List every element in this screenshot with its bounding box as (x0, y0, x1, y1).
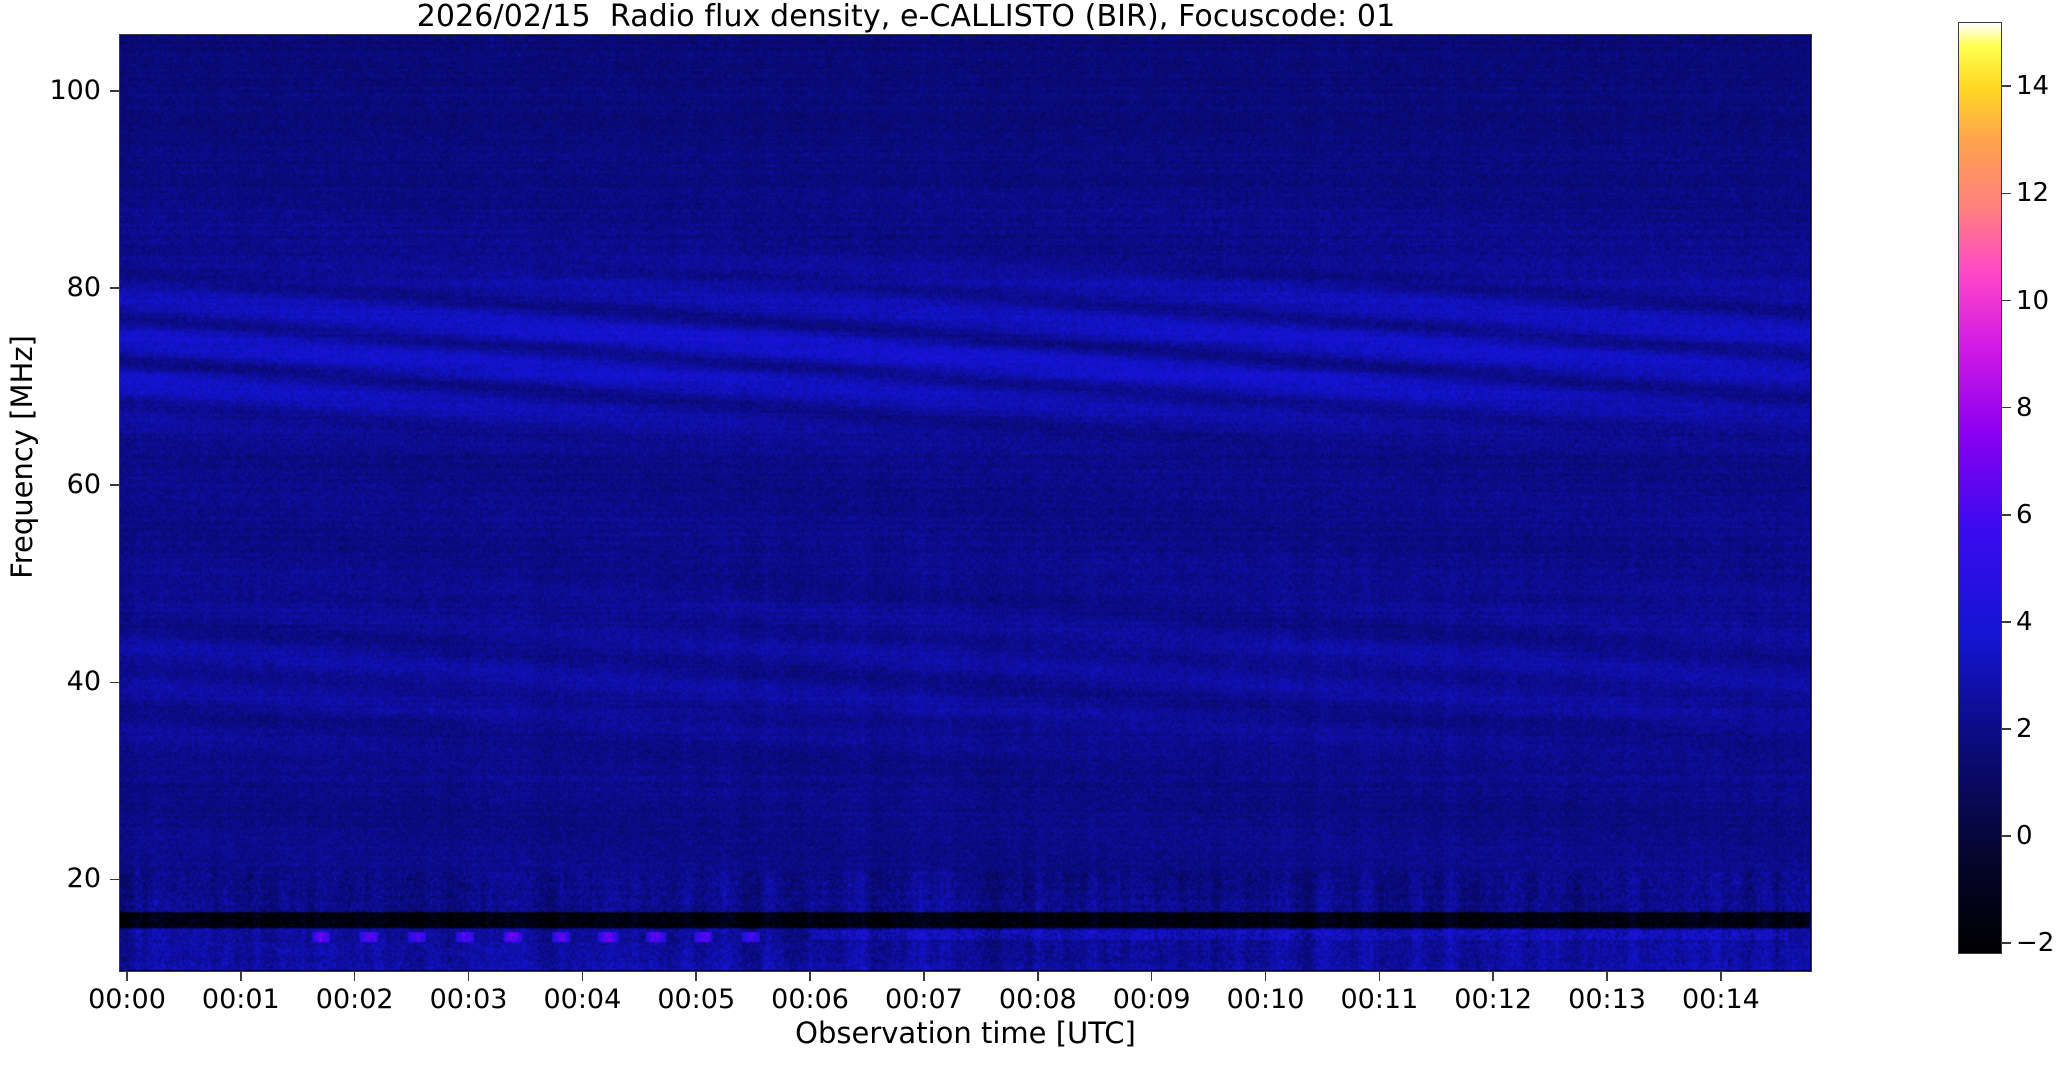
y-tick-label: 100 (9, 77, 101, 104)
y-tick-label: 20 (9, 865, 101, 892)
colorbar-tick-label: −2 (2016, 930, 2054, 956)
x-tick-mark (582, 972, 584, 981)
x-tick-label: 00:10 (1227, 986, 1305, 1013)
colorbar-tick-mark (2002, 193, 2011, 195)
x-axis-label: Observation time [UTC] (119, 1016, 1812, 1050)
x-tick-mark (126, 972, 128, 981)
x-tick-label: 00:05 (657, 986, 735, 1013)
colorbar-tick-mark (2002, 835, 2011, 837)
y-tick-mark (110, 287, 119, 289)
x-tick-label: 00:09 (1113, 986, 1191, 1013)
y-tick-mark (110, 90, 119, 92)
colorbar-tick-label: 4 (2016, 609, 2033, 635)
colorbar-gradient (1959, 23, 2001, 953)
x-tick-mark (1379, 972, 1381, 981)
x-tick-label: 00:12 (1454, 986, 1532, 1013)
y-tick-mark (110, 484, 119, 486)
spectrogram-image (120, 35, 1810, 970)
x-tick-label: 00:13 (1568, 986, 1646, 1013)
x-tick-label: 00:07 (885, 986, 963, 1013)
colorbar-tick-mark (2002, 728, 2011, 730)
x-tick-mark (240, 972, 242, 981)
colorbar-tick-label: 8 (2016, 395, 2033, 421)
spectrogram-figure: 2026/02/15 Radio flux density, e-CALLIST… (0, 0, 2066, 1067)
colorbar-tick-label: 6 (2016, 502, 2033, 528)
x-tick-mark (1606, 972, 1608, 981)
colorbar-tick-mark (2002, 300, 2011, 302)
colorbar-tick-mark (2002, 85, 2011, 87)
x-tick-label: 00:01 (202, 986, 280, 1013)
x-tick-mark (468, 972, 470, 981)
x-tick-label: 00:02 (316, 986, 394, 1013)
x-tick-mark (923, 972, 925, 981)
x-tick-mark (1151, 972, 1153, 981)
colorbar-tick-label: 14 (2016, 73, 2049, 99)
colorbar-tick-mark (2002, 514, 2011, 516)
x-tick-label: 00:00 (88, 986, 166, 1013)
x-tick-mark (354, 972, 356, 981)
colorbar-tick-label: 2 (2016, 716, 2033, 742)
x-tick-label: 00:06 (771, 986, 849, 1013)
x-tick-mark (1720, 972, 1722, 981)
x-tick-label: 00:14 (1682, 986, 1760, 1013)
x-tick-mark (1492, 972, 1494, 981)
x-tick-label: 00:04 (543, 986, 621, 1013)
colorbar-tick-label: 10 (2016, 288, 2049, 314)
colorbar-tick-mark (2002, 942, 2011, 944)
x-tick-mark (695, 972, 697, 981)
colorbar-tick-label: 0 (2016, 823, 2033, 849)
y-axis-label: Frequency [MHz] (5, 177, 39, 737)
x-tick-mark (809, 972, 811, 981)
x-tick-label: 00:03 (430, 986, 508, 1013)
page-title: 2026/02/15 Radio flux density, e-CALLIST… (0, 1, 1812, 33)
colorbar-tick-label: 12 (2016, 180, 2049, 206)
x-tick-label: 00:11 (1340, 986, 1418, 1013)
y-tick-mark (110, 682, 119, 684)
x-tick-mark (1037, 972, 1039, 981)
x-tick-mark (1265, 972, 1267, 981)
colorbar[interactable] (1958, 22, 2002, 954)
colorbar-tick-mark (2002, 621, 2011, 623)
y-tick-mark (110, 879, 119, 881)
spectrogram-plot-area[interactable] (119, 34, 1812, 972)
colorbar-tick-mark (2002, 407, 2011, 409)
x-tick-label: 00:08 (999, 986, 1077, 1013)
